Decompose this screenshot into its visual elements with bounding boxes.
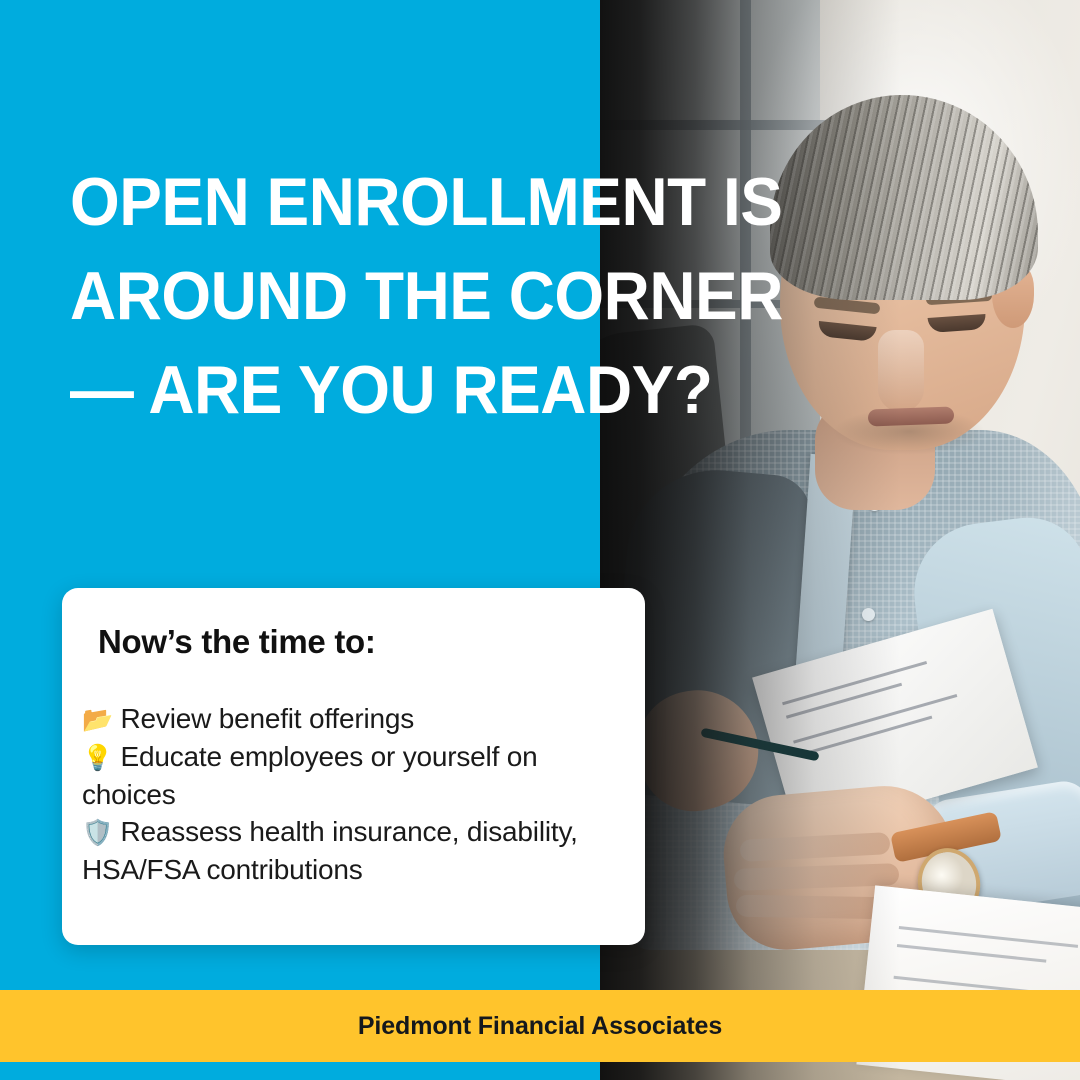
open-enrollment-poster: OPEN ENROLLMENT IS AROUND THE CORNER — A… xyxy=(0,0,1080,1080)
list-item-label: Reassess health insurance, disability, H… xyxy=(82,816,578,885)
checklist-items: 📂 Review benefit offerings 💡 Educate emp… xyxy=(82,700,627,888)
brand-name: Piedmont Financial Associates xyxy=(358,1012,722,1041)
page-title: OPEN ENROLLMENT IS AROUND THE CORNER — A… xyxy=(70,155,935,437)
open-folder-emoji: 📂 xyxy=(82,705,113,734)
brand-footer: Piedmont Financial Associates xyxy=(0,990,1080,1062)
document-line xyxy=(897,944,1046,963)
list-item-label: Review benefit offerings xyxy=(113,703,414,734)
finger xyxy=(736,895,891,920)
headline-line-1: OPEN ENROLLMENT IS xyxy=(70,155,935,249)
list-item-label: Educate employees or yourself on choices xyxy=(82,741,537,810)
list-item: 💡 Educate employees or yourself on choic… xyxy=(82,738,627,813)
list-item: 🛡️ Reassess health insurance, disability… xyxy=(82,813,627,888)
shield-emoji: 🛡️ xyxy=(82,818,113,847)
checklist-card: Now’s the time to: 📂 Review benefit offe… xyxy=(62,588,645,945)
document-line xyxy=(899,926,1078,948)
document-line xyxy=(793,694,957,744)
shirt-button-lower xyxy=(862,608,875,621)
headline-line-3: — ARE YOU READY? xyxy=(70,343,935,437)
list-item: 📂 Review benefit offerings xyxy=(82,700,627,738)
headline-line-2: AROUND THE CORNER xyxy=(70,249,935,343)
light-bulb-emoji: 💡 xyxy=(82,743,113,772)
checklist-heading: Now’s the time to: xyxy=(98,622,376,662)
